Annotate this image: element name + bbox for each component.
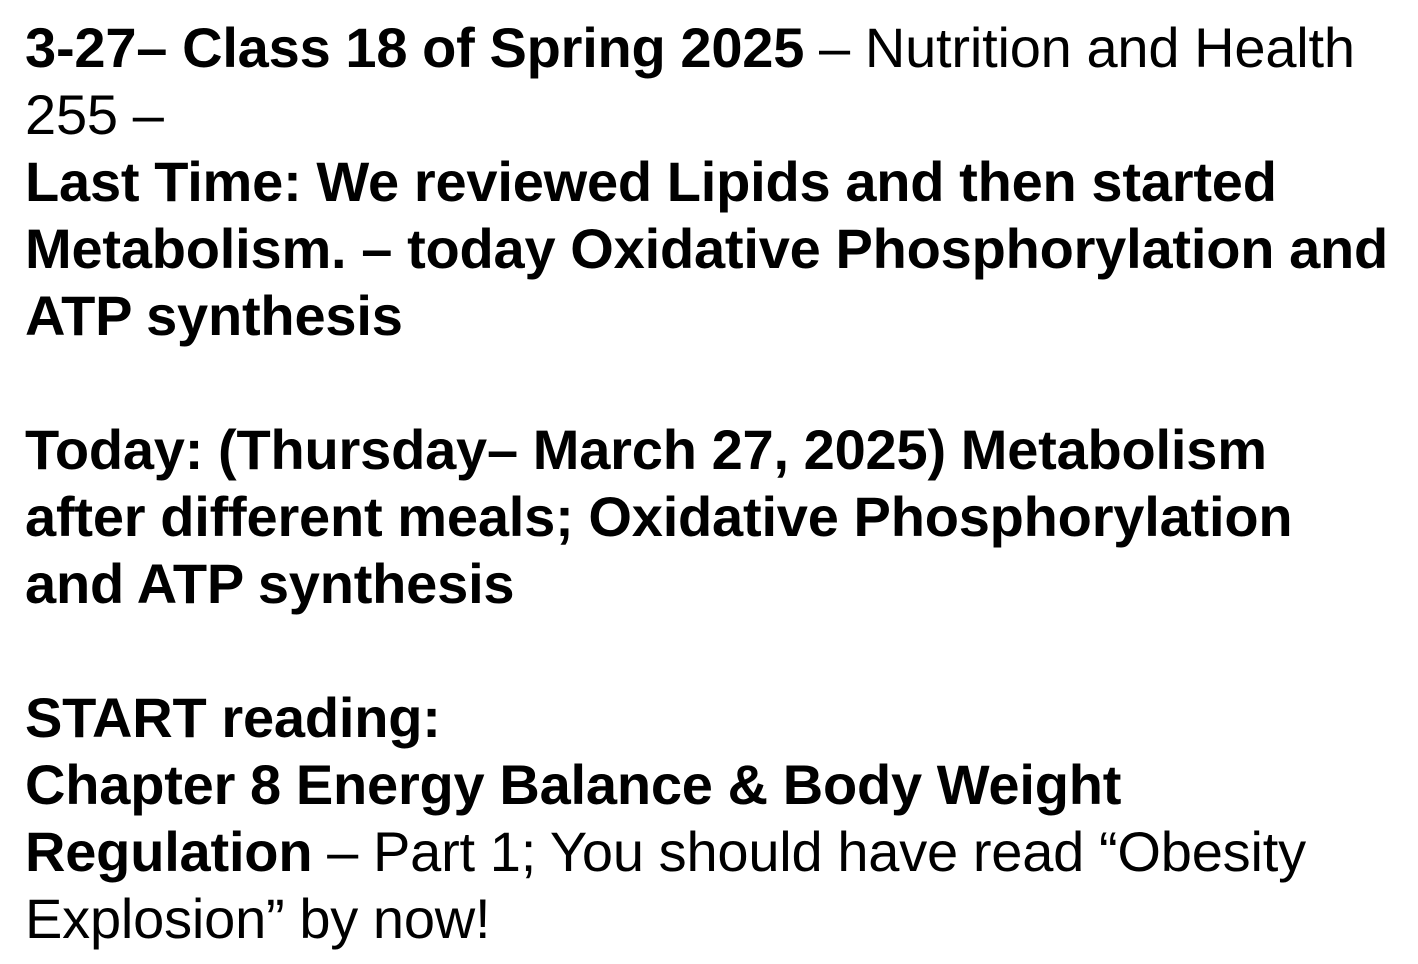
start-reading-heading: START reading: <box>25 684 1397 751</box>
today-paragraph: Today: (Thursday– March 27, 2025) Metabo… <box>25 416 1397 617</box>
slide-text-body: 3-27– Class 18 of Spring 2025 – Nutritio… <box>25 14 1397 952</box>
blank-line-1 <box>25 349 1397 416</box>
blank-line-2 <box>25 617 1397 684</box>
today-text: Today: (Thursday– March 27, 2025) Metabo… <box>25 418 1292 615</box>
last-time-text: Last Time: We reviewed Lipids and then s… <box>25 150 1388 347</box>
start-reading-text: START reading: <box>25 686 441 749</box>
chapter-reading-paragraph: Chapter 8 Energy Balance & Body Weight R… <box>25 751 1397 952</box>
slide-title-bold-run: 3-27– Class 18 of Spring 2025 <box>25 16 804 79</box>
slide-title-line: 3-27– Class 18 of Spring 2025 – Nutritio… <box>25 14 1397 148</box>
slide-canvas: 3-27– Class 18 of Spring 2025 – Nutritio… <box>0 0 1418 964</box>
last-time-paragraph: Last Time: We reviewed Lipids and then s… <box>25 148 1397 349</box>
